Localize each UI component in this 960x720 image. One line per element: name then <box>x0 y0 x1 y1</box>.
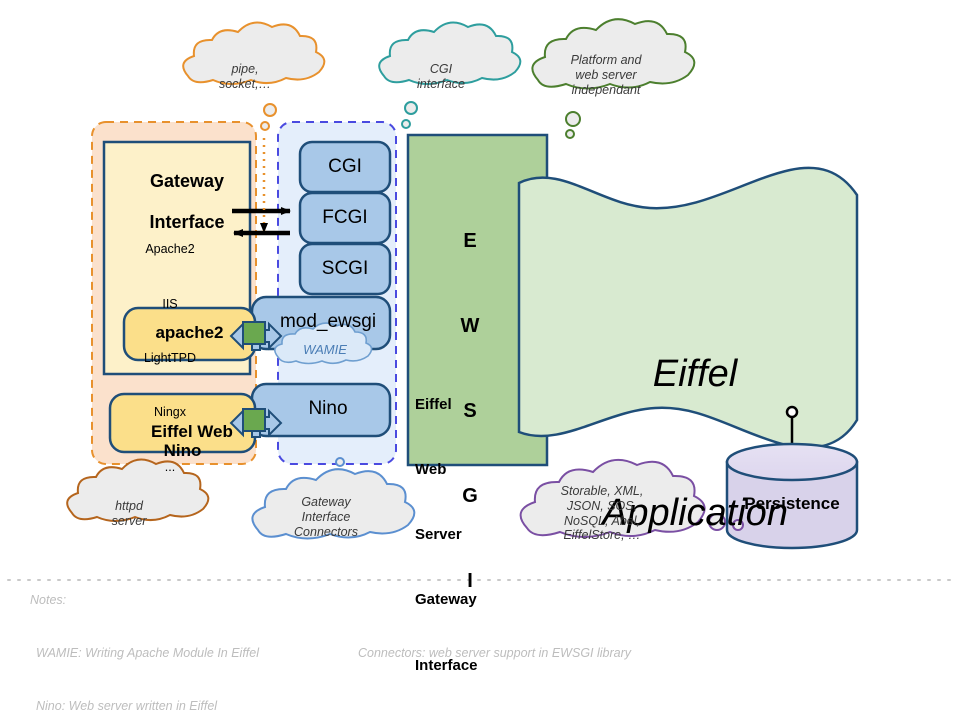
diagram-canvas: Gateway Interface Apache2 IIS LightTPD N… <box>0 0 960 720</box>
connector-box-fcgi[interactable] <box>300 193 390 243</box>
connector-box-scgi[interactable] <box>300 244 390 294</box>
cloud-text-gateway-connectors: Gateway Interface Connectors <box>263 495 389 539</box>
cloud-text-cgi-interface: CGI interface <box>386 62 496 92</box>
connector-box-cgi[interactable] <box>300 142 390 192</box>
notes-left-list: WAMIE: Writing Apache Module In Eiffel N… <box>36 609 259 720</box>
cloud-text-httpd-server: httpd server <box>74 499 184 529</box>
notes-right-list: Connectors: web server support in EWSGI … <box>358 609 631 698</box>
cloud-text-platform-independent: Platform and web server independant <box>543 53 669 97</box>
notes-heading: Notes: <box>30 592 66 610</box>
cloud-text-pipe-socket: pipe, socket,… <box>190 62 300 92</box>
note-item-connectors: Connectors: web server support in EWSGI … <box>358 645 631 663</box>
note-item-nino: Nino: Web server written in Eiffel <box>36 698 259 716</box>
eiffel-application-flag[interactable] <box>519 168 857 448</box>
persistence-cylinder[interactable] <box>727 444 857 548</box>
cloud-text-persistence-tech: Storable, XML, JSON, SOS, NoSQL, Abel, E… <box>532 484 672 543</box>
note-item-wamie: WAMIE: Writing Apache Module In Eiffel <box>36 645 259 663</box>
